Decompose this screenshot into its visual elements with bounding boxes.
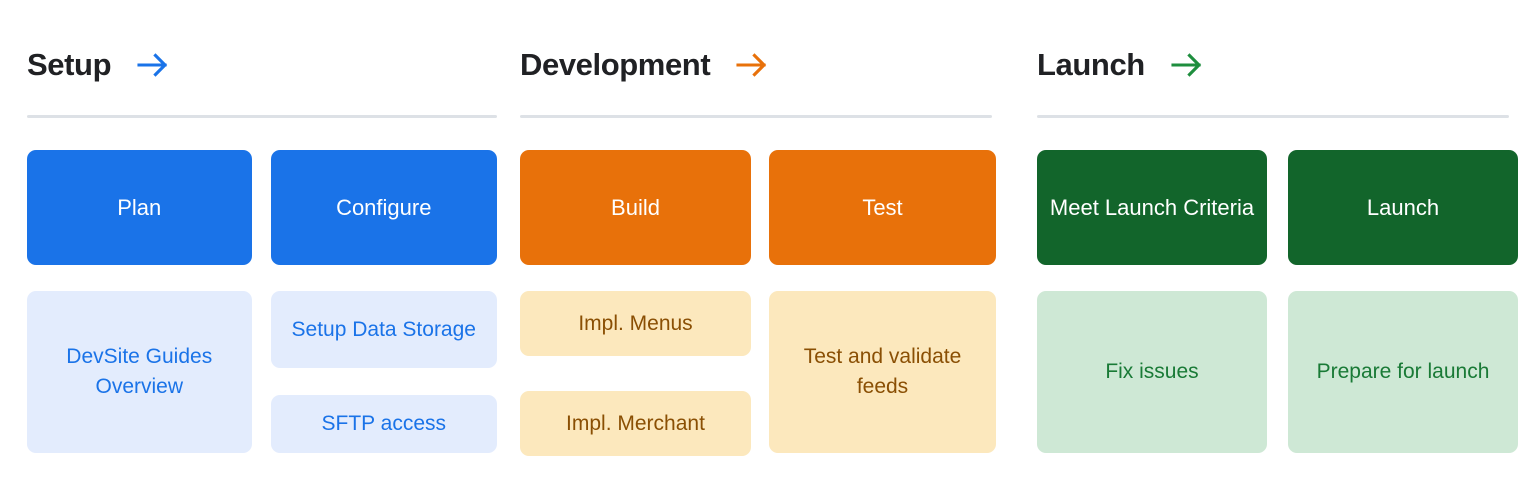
column-plan: Plan DevSite Guides Overview — [27, 150, 252, 453]
subcards-launch: Prepare for launch — [1288, 291, 1518, 453]
column-configure: Configure Setup Data Storage SFTP access — [271, 150, 497, 453]
subcard-prepare-for-launch[interactable]: Prepare for launch — [1288, 291, 1518, 453]
subcards-configure: Setup Data Storage SFTP access — [271, 291, 497, 453]
section-title-development: Development — [520, 47, 710, 83]
section-columns-setup: Plan DevSite Guides Overview Configure S… — [0, 150, 497, 453]
card-label: Build — [611, 193, 660, 222]
subcards-build: Impl. Menus Impl. Merchant — [520, 291, 751, 456]
subcard-label: Impl. Merchant — [566, 409, 705, 439]
subcard-label: Impl. Menus — [578, 309, 692, 339]
card-meet-launch-criteria[interactable]: Meet Launch Criteria — [1037, 150, 1267, 265]
column-build: Build Impl. Menus Impl. Merchant — [520, 150, 751, 456]
subcard-gap — [520, 356, 751, 391]
subcard-impl-merchant[interactable]: Impl. Merchant — [520, 391, 751, 456]
column-test: Test Test and validate feeds — [769, 150, 996, 456]
section-divider-launch — [1037, 115, 1509, 118]
section-title-launch: Launch — [1037, 47, 1145, 83]
card-launch[interactable]: Launch — [1288, 150, 1518, 265]
column-launch: Launch Prepare for launch — [1288, 150, 1518, 453]
subcard-label: SFTP access — [322, 409, 446, 439]
subcards-meet-launch-criteria: Fix issues — [1037, 291, 1267, 453]
section-title-setup: Setup — [27, 47, 111, 83]
card-configure[interactable]: Configure — [271, 150, 497, 265]
arrow-right-icon — [136, 47, 170, 83]
subcards-plan: DevSite Guides Overview — [27, 291, 252, 453]
process-flow-diagram: Setup Plan DevSite Guides Overview — [0, 0, 1518, 484]
section-header-development: Development — [520, 42, 1015, 88]
subcard-fix-issues[interactable]: Fix issues — [1037, 291, 1267, 453]
arrow-right-icon — [735, 47, 769, 83]
section-divider-development — [520, 115, 992, 118]
card-test[interactable]: Test — [769, 150, 996, 265]
subcard-gap — [271, 368, 497, 395]
column-meet-launch-criteria: Meet Launch Criteria Fix issues — [1037, 150, 1267, 453]
subcard-setup-data-storage[interactable]: Setup Data Storage — [271, 291, 497, 368]
card-label: Meet Launch Criteria — [1050, 193, 1254, 222]
card-label: Launch — [1367, 193, 1439, 222]
subcard-label: Fix issues — [1105, 357, 1198, 387]
subcard-label: DevSite Guides Overview — [37, 342, 242, 402]
card-label: Test — [862, 193, 902, 222]
card-build[interactable]: Build — [520, 150, 751, 265]
subcard-impl-menus[interactable]: Impl. Menus — [520, 291, 751, 356]
section-header-setup: Setup — [0, 42, 497, 88]
section-launch: Launch Meet Launch Criteria Fix issues — [1037, 0, 1518, 484]
section-columns-development: Build Impl. Menus Impl. Merchant Test — [520, 150, 1015, 456]
section-divider-setup — [27, 115, 497, 118]
subcard-label: Prepare for launch — [1317, 357, 1490, 387]
section-setup: Setup Plan DevSite Guides Overview — [0, 0, 497, 484]
card-plan[interactable]: Plan — [27, 150, 252, 265]
arrow-right-icon — [1170, 47, 1204, 83]
card-label: Plan — [117, 193, 161, 222]
card-label: Configure — [336, 193, 431, 222]
subcard-devsite-guides-overview[interactable]: DevSite Guides Overview — [27, 291, 252, 453]
section-development: Development Build Impl. Menus — [520, 0, 1015, 484]
subcards-test: Test and validate feeds — [769, 291, 996, 456]
subcard-test-and-validate-feeds[interactable]: Test and validate feeds — [769, 291, 996, 453]
section-header-launch: Launch — [1037, 42, 1518, 88]
subcard-label: Setup Data Storage — [292, 315, 476, 345]
subcard-label: Test and validate feeds — [779, 342, 986, 402]
section-columns-launch: Meet Launch Criteria Fix issues Launch P… — [1037, 150, 1518, 453]
subcard-sftp-access[interactable]: SFTP access — [271, 395, 497, 453]
